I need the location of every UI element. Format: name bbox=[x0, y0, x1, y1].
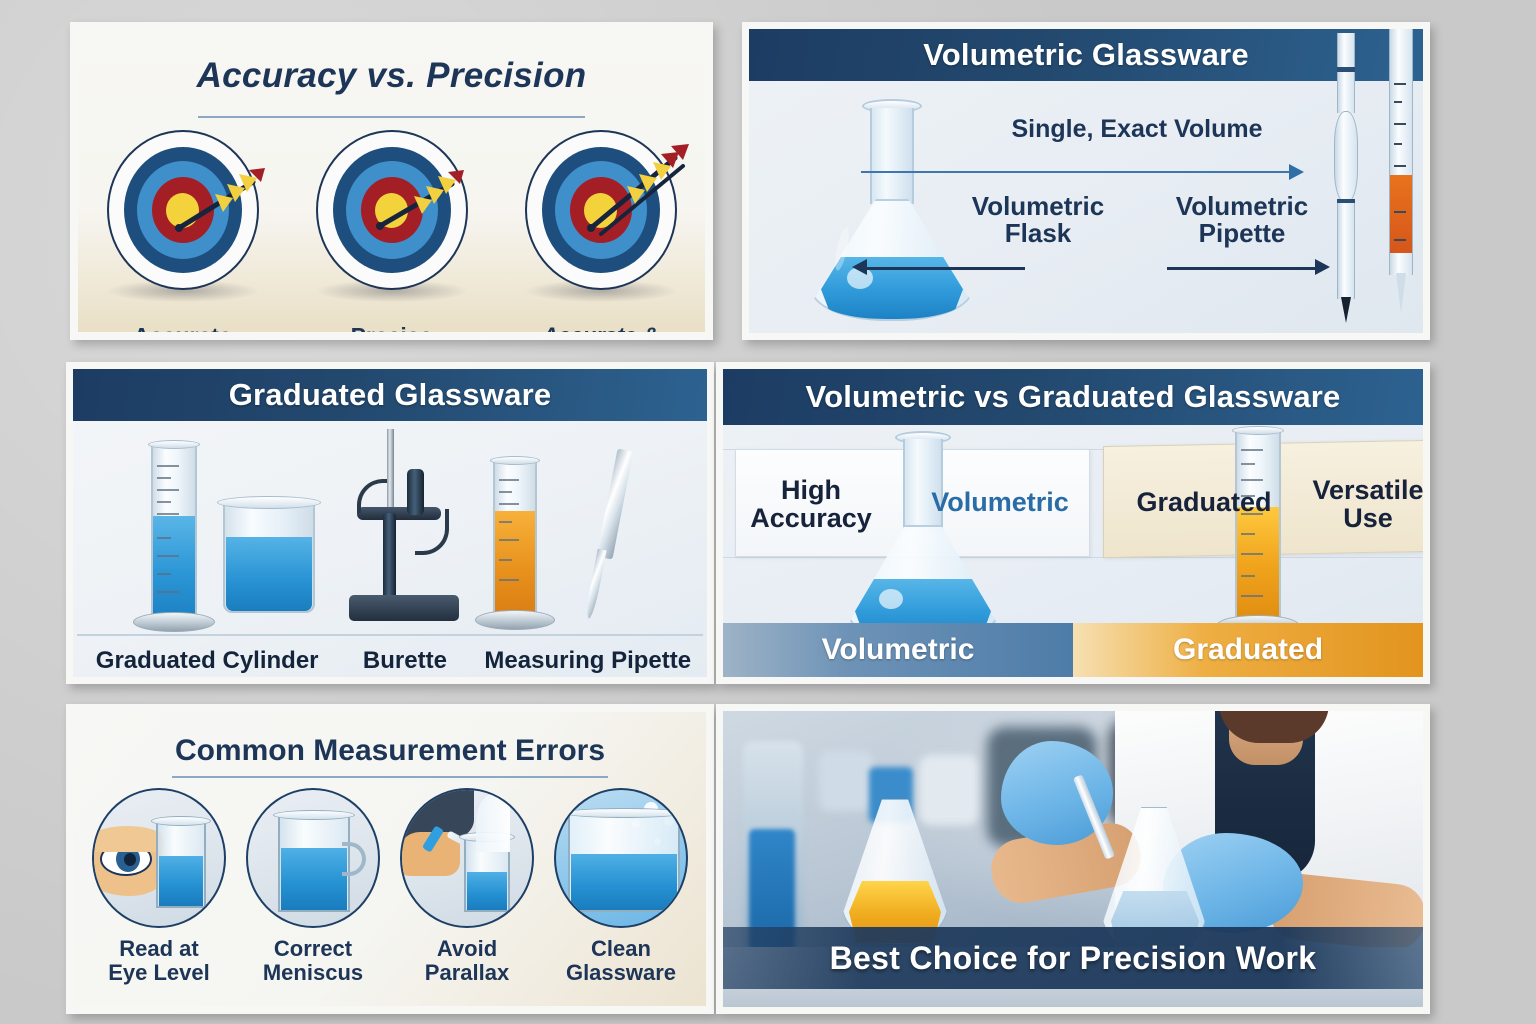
panel-accuracy-vs-precision: Accuracy vs. Precision bbox=[70, 22, 713, 340]
panel-volumetric-inner: Volumetric Glassware Single, Exact Volum… bbox=[749, 29, 1423, 333]
label-graduated-cylinder: Graduated Cylinder bbox=[73, 647, 341, 675]
bg-blur-shape bbox=[819, 751, 873, 811]
panel-lab-photo: Best Choice for Precision Work bbox=[716, 704, 1430, 1014]
eye-beaker-icon bbox=[92, 788, 226, 928]
panel-header-graduated: Graduated Glassware bbox=[73, 369, 707, 421]
label-high-accuracy: High Accuracy bbox=[741, 477, 881, 533]
target-cell-accurate: Accurate bbox=[83, 130, 283, 290]
error-items-row: Read at Eye Level Correct Meni bbox=[82, 788, 698, 985]
photo-caption: Best Choice for Precision Work bbox=[723, 927, 1423, 989]
panel-errors-inner: Common Measurement Errors bbox=[74, 712, 706, 1006]
label-measuring-pipette: Measuring Pipette bbox=[469, 647, 707, 675]
page-title-errors: Common Measurement Errors bbox=[74, 734, 706, 768]
callout-arrow-head bbox=[1289, 164, 1304, 180]
measuring-pipette-icon bbox=[1389, 29, 1413, 333]
error-item-avoid-parallax: Avoid Parallax bbox=[392, 788, 542, 985]
target-cell-accurate-precise: Accurate & Precise bbox=[501, 130, 701, 290]
target-label: Precise bbox=[292, 323, 492, 332]
page-title-accuracy: Accuracy vs. Precision bbox=[78, 56, 705, 96]
panel-compare-body: High Accuracy Volumetric Graduated Versa… bbox=[723, 425, 1423, 677]
volumetric-flask-icon bbox=[843, 431, 1003, 649]
panel-common-measurement-errors: Common Measurement Errors bbox=[66, 704, 714, 1014]
beaker-meniscus-icon bbox=[246, 788, 380, 928]
compare-footer-row: Volumetric Graduated bbox=[723, 623, 1423, 677]
panel-volumetric-vs-graduated: Volumetric vs Graduated Glassware bbox=[716, 362, 1430, 684]
label-volumetric-flask: Volumetric Flask bbox=[945, 193, 1131, 248]
pipette-arrow-line bbox=[1167, 267, 1317, 270]
compare-divider-bottom bbox=[723, 557, 1423, 558]
slim-pipette-icon bbox=[573, 449, 637, 625]
graduated-cylinder-icon bbox=[151, 443, 197, 623]
panel-graduated-inner: Graduated Glassware bbox=[73, 369, 707, 677]
panel-graduated-body: Graduated Cylinder Burette Measuring Pip… bbox=[73, 421, 707, 677]
panel-volumetric-body: Single, Exact Volume Volumetric Flask Vo… bbox=[749, 81, 1423, 333]
label-divider bbox=[77, 634, 703, 636]
panel-photo-inner: Best Choice for Precision Work bbox=[723, 711, 1423, 1007]
panel-header-volumetric: Volumetric Glassware bbox=[749, 29, 1423, 81]
panel-accuracy-inner: Accuracy vs. Precision bbox=[78, 30, 705, 332]
target-icon bbox=[525, 130, 677, 290]
error-item-label: Correct Meniscus bbox=[238, 937, 388, 985]
panel-graduated-glassware: Graduated Glassware bbox=[66, 362, 714, 684]
label-versatile-use: Versatile Use bbox=[1303, 477, 1423, 533]
pipette-arrow-head bbox=[1315, 259, 1330, 275]
error-item-clean-glassware: Clean Glassware bbox=[546, 788, 696, 985]
label-volumetric-type: Volumetric bbox=[905, 489, 1095, 517]
title-divider bbox=[198, 116, 585, 118]
title-divider bbox=[172, 776, 608, 778]
footer-volumetric: Volumetric bbox=[723, 623, 1073, 677]
beaker-icon bbox=[223, 503, 315, 613]
error-item-label: Clean Glassware bbox=[546, 937, 696, 985]
callout-single-exact-volume: Single, Exact Volume bbox=[967, 115, 1307, 144]
panel-compare-inner: Volumetric vs Graduated Glassware bbox=[723, 369, 1423, 677]
error-item-read-at-eye-level: Read at Eye Level bbox=[84, 788, 234, 985]
panel-header-compare: Volumetric vs Graduated Glassware bbox=[723, 369, 1423, 425]
flask-arrow-line bbox=[867, 267, 1025, 270]
label-graduated-type: Graduated bbox=[1111, 489, 1297, 517]
graduated-labels-row: Graduated Cylinder Burette Measuring Pip… bbox=[73, 647, 707, 675]
infographic-board: Accuracy vs. Precision bbox=[0, 0, 1536, 1024]
error-item-label: Read at Eye Level bbox=[84, 937, 234, 985]
hand-pipette-icon bbox=[400, 788, 534, 928]
target-icon bbox=[316, 130, 468, 290]
clean-beaker-bubbles-icon bbox=[554, 788, 688, 928]
target-label: Accurate & Precise bbox=[501, 323, 701, 332]
target-label: Accurate bbox=[83, 323, 283, 332]
graduated-cylinder-icon bbox=[1235, 429, 1281, 625]
target-cell-precise: Precise bbox=[292, 130, 492, 290]
footer-graduated: Graduated bbox=[1073, 623, 1423, 677]
callout-arrow-line bbox=[861, 171, 1291, 173]
bg-blur-shape bbox=[919, 755, 979, 825]
target-row: Accurate bbox=[78, 130, 705, 290]
target-icon bbox=[107, 130, 259, 290]
label-burette: Burette bbox=[341, 647, 468, 675]
label-volumetric-pipette: Volumetric Pipette bbox=[1149, 193, 1335, 248]
volumetric-pipette-icon bbox=[1337, 33, 1355, 323]
error-item-correct-meniscus: Correct Meniscus bbox=[238, 788, 388, 985]
error-item-label: Avoid Parallax bbox=[392, 937, 542, 985]
panel-volumetric-glassware: Volumetric Glassware Single, Exact Volum… bbox=[742, 22, 1430, 340]
flask-arrow-head bbox=[852, 259, 867, 275]
measuring-pipette-cylinder-icon bbox=[493, 459, 537, 621]
burette-icon bbox=[345, 429, 475, 621]
